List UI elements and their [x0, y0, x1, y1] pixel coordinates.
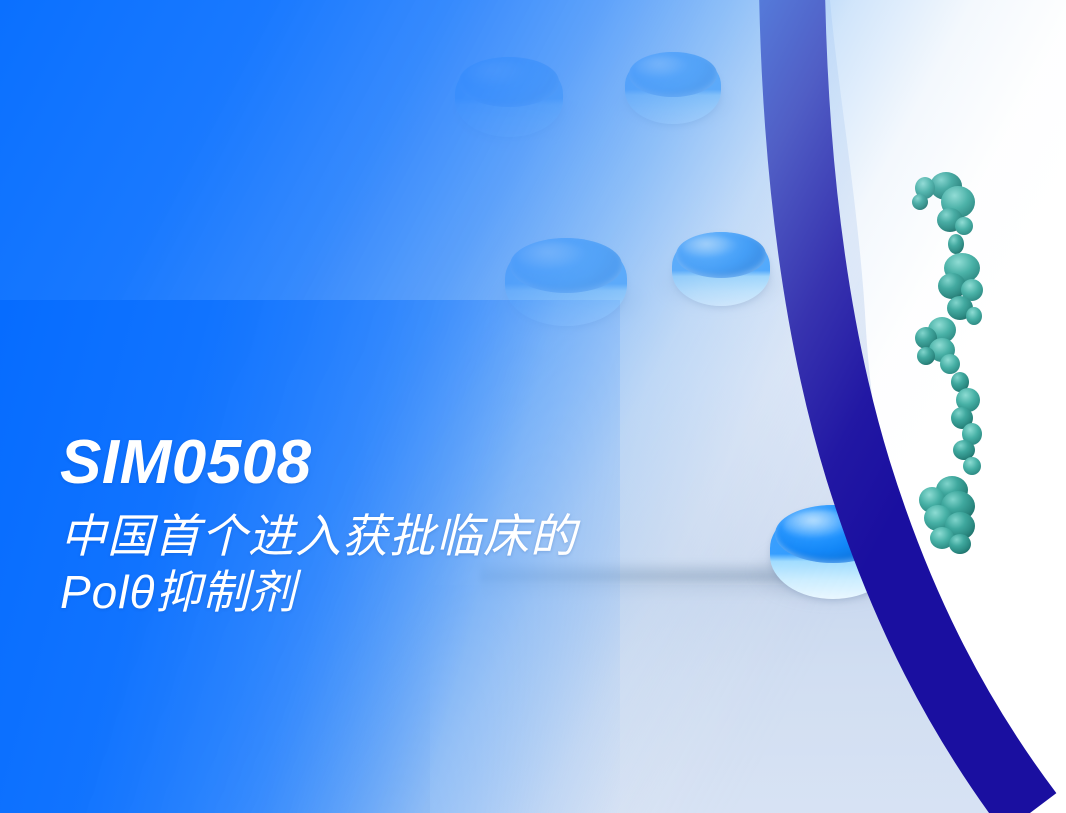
headline-subtitle: 中国首个进入获批临床的 Polθ抑制剂: [60, 508, 577, 620]
subtitle-line-1: 中国首个进入获批临床的: [60, 508, 577, 564]
product-code-title: SIM0508: [60, 432, 577, 494]
headline-block: SIM0508 中国首个进入获批临床的 Polθ抑制剂: [60, 432, 577, 620]
slide-canvas: SIM0508 中国首个进入获批临床的 Polθ抑制剂: [0, 0, 1066, 813]
subtitle-line-2: Polθ抑制剂: [60, 564, 577, 620]
